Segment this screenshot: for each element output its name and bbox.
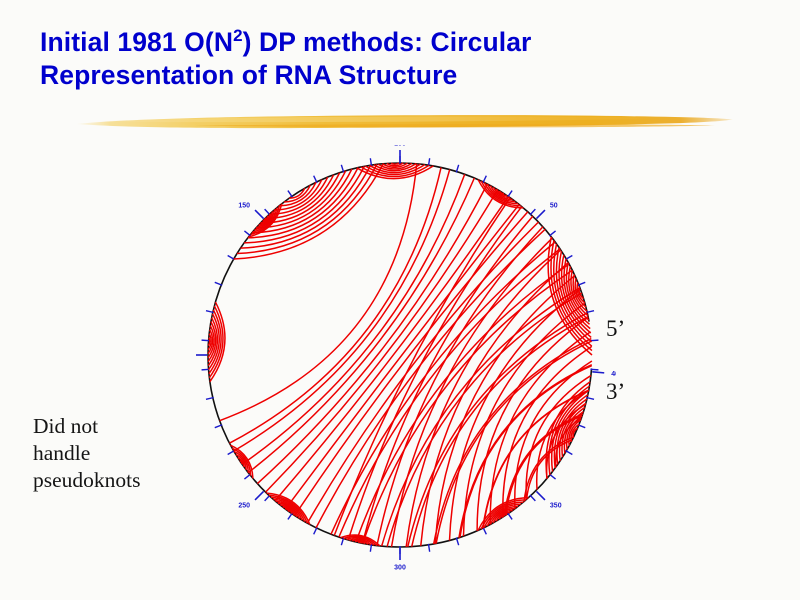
title-line-1: Initial 1981 O(N2) DP methods: Circular xyxy=(40,26,740,59)
axis-label-100: 100 xyxy=(394,145,406,148)
page-title: Initial 1981 O(N2) DP methods: Circular … xyxy=(40,26,740,92)
axis-labels: 10050400350300250200150 xyxy=(196,145,616,570)
axis-tick xyxy=(255,210,263,218)
basepair-arc xyxy=(459,365,592,538)
basepair-arc xyxy=(248,178,474,473)
caption-line-1: Did not xyxy=(33,413,208,440)
basepair-arc xyxy=(275,197,508,501)
axis-tick xyxy=(536,210,544,218)
title-line-2: Representation of RNA Structure xyxy=(40,59,740,92)
gold-brushstroke-divider xyxy=(75,108,735,134)
caption-line-3: pseudoknots xyxy=(33,467,208,494)
rna-plot-root: 10050400350300250200150 xyxy=(196,145,616,570)
axis-label-350: 350 xyxy=(550,502,562,509)
circular-rna-diagram: 10050400350300250200150 xyxy=(196,145,616,570)
axis-label-300: 300 xyxy=(394,565,406,571)
axis-label-400: 400 xyxy=(611,371,616,378)
title-line-1-pre: Initial 1981 O(N xyxy=(40,27,233,57)
basepair-arc xyxy=(237,164,377,253)
title-exponent: 2 xyxy=(233,26,243,45)
five-prime-end-label: 5’ xyxy=(606,317,625,340)
slide-canvas: Initial 1981 O(N2) DP methods: Circular … xyxy=(0,0,800,600)
title-line-1-post: ) DP methods: Circular xyxy=(243,27,532,57)
three-prime-end-label: 3’ xyxy=(606,380,625,403)
axis-tick xyxy=(255,491,263,499)
basepair-arc xyxy=(460,366,592,538)
caption-pseudoknots: Did not handle pseudoknots xyxy=(33,413,208,494)
axis-label-150: 150 xyxy=(238,203,250,210)
caption-line-2: handle xyxy=(33,440,208,467)
axis-label-50: 50 xyxy=(550,203,558,210)
axis-tick xyxy=(536,491,544,499)
axis-tick xyxy=(592,372,604,373)
axis-label-250: 250 xyxy=(238,502,250,509)
basepair-arcs xyxy=(208,163,592,547)
